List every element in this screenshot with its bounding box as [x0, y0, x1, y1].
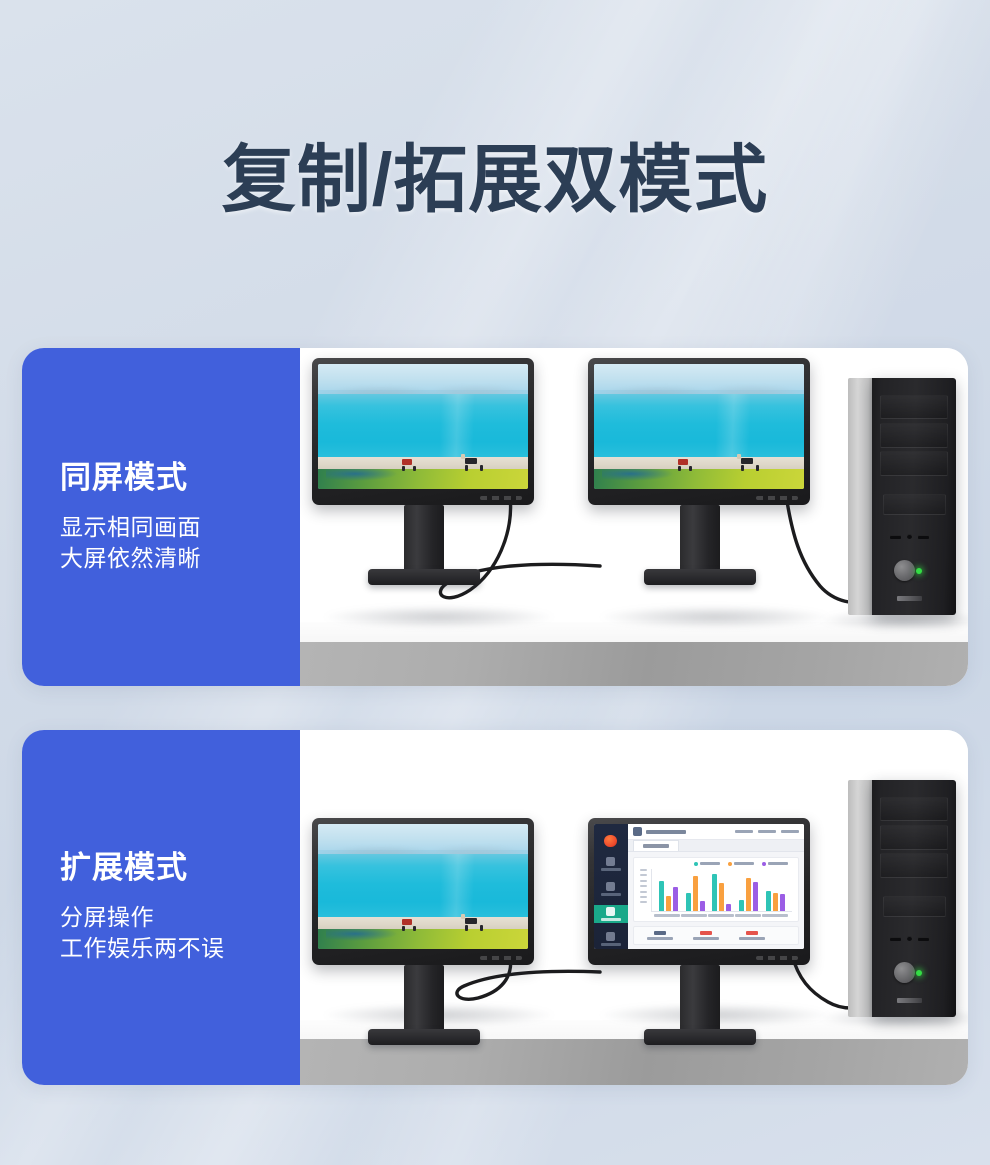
bar[interactable]: [753, 882, 758, 912]
wallpaper-horse-leg: [689, 466, 692, 471]
dashboard-sidebar: [594, 824, 628, 949]
wallpaper-lake: [318, 854, 528, 919]
mode-label-panel-same-screen: 同屏模式 显示相同画面 大屏依然清晰: [22, 348, 300, 686]
tower-usb-port-icon[interactable]: [890, 937, 901, 941]
sidebar-item-1[interactable]: [594, 855, 628, 872]
stat-label: [647, 937, 673, 940]
chart-x-axis: [640, 912, 792, 917]
stat-item: [647, 931, 673, 940]
desk-front-edge: [300, 642, 968, 686]
wallpaper-cow-head: [461, 914, 465, 919]
sidebar-item-4[interactable]: [594, 931, 628, 948]
y-tick: [640, 885, 647, 887]
monitor-screen: [318, 364, 528, 489]
tower-usb-port-icon[interactable]: [918, 535, 929, 539]
wallpaper-mountains: [594, 379, 804, 395]
bar[interactable]: [712, 874, 717, 912]
tower-front-ports[interactable]: [890, 936, 929, 941]
wallpaper-cow-leg: [480, 925, 483, 931]
monitor-left: [312, 818, 534, 965]
sidebar-item-label: [601, 868, 621, 871]
stat-label: [739, 937, 765, 940]
tower-audio-jack-icon[interactable]: [907, 936, 912, 941]
tower-side-panel: [848, 378, 874, 615]
wallpaper-lake: [594, 394, 804, 459]
y-tick: [640, 880, 647, 882]
wallpaper-cow-head: [461, 454, 465, 459]
dashboard-app: [594, 824, 804, 949]
bar[interactable]: [659, 881, 664, 912]
chart-plot-area: [651, 869, 792, 913]
tower-vent-panel: [883, 494, 946, 515]
wallpaper-horse-icon: [402, 459, 412, 465]
lake-landscape-wallpaper: [318, 824, 528, 949]
bar[interactable]: [686, 893, 691, 912]
tower-drive-bay: [880, 825, 948, 850]
y-tick: [640, 874, 647, 876]
topbar-actions[interactable]: [735, 830, 799, 834]
mode-title: 扩展模式: [60, 851, 300, 885]
topbar-action-item[interactable]: [781, 830, 799, 834]
y-tick: [640, 896, 647, 898]
wallpaper-mountains: [318, 379, 528, 395]
bar[interactable]: [780, 894, 785, 911]
mode-label-panel-extend: 扩展模式 分屏操作 工作娱乐两不误: [22, 730, 300, 1085]
wallpaper-horse-leg: [678, 466, 681, 471]
bar[interactable]: [693, 876, 698, 911]
mode-desc-line-2: 工作娱乐两不误: [60, 933, 300, 964]
wallpaper-grass: [594, 469, 804, 489]
tower-side-panel: [848, 780, 874, 1017]
wallpaper-lake: [318, 394, 528, 459]
monitor-bezel: [588, 818, 810, 965]
dashboard-logo-icon: [604, 835, 617, 848]
dashboard-main: [628, 824, 804, 949]
tower-usb-port-icon[interactable]: [918, 937, 929, 941]
app-brand-label: [646, 830, 686, 834]
monitor-screen: [318, 824, 528, 949]
tower-front-panel: [872, 378, 956, 615]
topbar-action-item[interactable]: [735, 830, 753, 834]
tower-front-ports[interactable]: [890, 534, 929, 539]
tower-power-led-icon: [916, 970, 922, 976]
tower-brand-logo: [897, 998, 922, 1003]
wallpaper-cow-leg: [741, 465, 744, 471]
tower-power-led-icon: [916, 568, 922, 574]
monitor-floor-shadow: [324, 606, 554, 628]
bar-group: [712, 869, 731, 912]
sidebar-item-label: [601, 943, 621, 946]
wallpaper-cow-leg: [756, 465, 759, 471]
lake-landscape-wallpaper: [318, 364, 528, 489]
bar[interactable]: [766, 891, 771, 911]
wallpaper-cow-icon: [465, 458, 477, 464]
sidebar-item-label: [601, 893, 621, 896]
sidebar-item-label: [601, 918, 621, 921]
x-tick-label: [654, 914, 680, 917]
chart-y-axis: [640, 869, 651, 913]
wallpaper-horse-icon: [402, 919, 412, 925]
tower-front-panel: [872, 780, 956, 1017]
monitor-stand-neck: [680, 965, 720, 1035]
y-tick: [640, 901, 647, 903]
y-tick: [640, 869, 647, 871]
tower-drive-bay: [880, 423, 948, 448]
stat-item: [739, 931, 765, 940]
wallpaper-cow-leg: [465, 465, 468, 471]
wallpaper-horse-leg: [402, 466, 405, 471]
desktop-pc-tower: [848, 780, 956, 1017]
wallpaper-horse-leg: [413, 926, 416, 931]
mode-card-same-screen: 同屏模式 显示相同画面 大屏依然清晰: [22, 348, 968, 686]
tower-drive-bay: [880, 451, 948, 476]
app-brand-icon: [633, 827, 642, 836]
wallpaper-cow-leg: [465, 925, 468, 931]
page-title: 复制/拓展双模式: [0, 143, 990, 217]
scene-same-screen: [300, 348, 968, 686]
monitor-right: [588, 358, 810, 505]
mode-title: 同屏模式: [60, 461, 300, 495]
stat-item: [693, 931, 719, 940]
monitor-stand-neck: [680, 505, 720, 575]
monitor-stand-base: [644, 569, 756, 585]
bar[interactable]: [673, 887, 678, 912]
tower-vent-panel: [883, 896, 946, 917]
monitor-bezel: [588, 358, 810, 505]
bar-group: [739, 869, 758, 912]
tab-active[interactable]: [633, 840, 679, 850]
dashboard-body: [628, 852, 804, 950]
x-tick-label: [708, 914, 734, 917]
stat-value: [746, 931, 758, 935]
sidebar-item-2[interactable]: [594, 880, 628, 897]
stat-value: [654, 931, 666, 935]
desktop-pc-tower: [848, 378, 956, 615]
monitor-bezel: [312, 358, 534, 505]
stat-value: [700, 931, 712, 935]
monitor-left: [312, 358, 534, 505]
monitor-stand-base: [644, 1029, 756, 1045]
monitor-floor-shadow: [600, 606, 830, 628]
monitor-stand-base: [368, 1029, 480, 1045]
bar[interactable]: [726, 904, 731, 912]
dashboard-stats-footer: [633, 926, 799, 946]
chart-panel: [633, 857, 799, 922]
tower-drive-bay: [880, 395, 948, 420]
tower-audio-jack-icon[interactable]: [907, 534, 912, 539]
y-tick: [640, 891, 647, 893]
bar[interactable]: [739, 900, 744, 911]
tower-drive-bay: [880, 853, 948, 878]
monitor-screen-dashboard: [594, 824, 804, 949]
chart-icon: [606, 907, 615, 916]
lake-landscape-wallpaper: [594, 364, 804, 489]
bar[interactable]: [700, 901, 705, 911]
tower-drive-bay: [880, 797, 948, 822]
stat-label: [693, 937, 719, 940]
wallpaper-horse-icon: [678, 459, 688, 465]
wallpaper-mountains: [318, 839, 528, 855]
wallpaper-cow-icon: [465, 918, 477, 924]
monitor-screen: [594, 364, 804, 489]
user-icon: [606, 932, 615, 941]
list-icon: [606, 882, 615, 891]
bar-group: [659, 869, 678, 912]
wallpaper-grass: [318, 929, 528, 949]
dashboard-topbar: [628, 824, 804, 840]
bar[interactable]: [666, 896, 671, 911]
scene-extend: [300, 730, 968, 1085]
wallpaper-horse-leg: [413, 466, 416, 471]
wallpaper-cow-leg: [480, 465, 483, 471]
mode-desc-line-2: 大屏依然清晰: [60, 543, 300, 574]
home-icon: [606, 857, 615, 866]
monitor-right: [588, 818, 810, 965]
monitor-stand-neck: [404, 505, 444, 575]
wallpaper-cow-icon: [741, 458, 753, 464]
bar-group: [766, 869, 785, 912]
x-tick-label: [762, 914, 788, 917]
wallpaper-horse-leg: [402, 926, 405, 931]
bar[interactable]: [719, 883, 724, 911]
tower-brand-logo: [897, 596, 922, 601]
desk-front-edge: [300, 1039, 968, 1085]
x-tick-label: [681, 914, 707, 917]
bar-group: [686, 869, 705, 912]
wallpaper-cow-head: [737, 454, 741, 459]
bar[interactable]: [746, 878, 751, 911]
bar-chart: [640, 866, 792, 913]
tower-power-button[interactable]: [894, 560, 915, 581]
monitor-stand-neck: [404, 965, 444, 1035]
mode-card-extend: 扩展模式 分屏操作 工作娱乐两不误: [22, 730, 968, 1085]
monitor-stand-base: [368, 569, 480, 585]
dashboard-tabbar: [628, 840, 804, 851]
bar[interactable]: [773, 893, 778, 912]
mode-desc-line-1: 显示相同画面: [60, 512, 300, 543]
tower-usb-port-icon[interactable]: [890, 535, 901, 539]
monitor-bezel: [312, 818, 534, 965]
sidebar-item-3[interactable]: [594, 905, 628, 922]
x-tick-label: [735, 914, 761, 917]
mode-desc-line-1: 分屏操作: [60, 902, 300, 933]
tower-power-button[interactable]: [894, 962, 915, 983]
wallpaper-grass: [318, 469, 528, 489]
topbar-action-item[interactable]: [758, 830, 776, 834]
tab-label: [643, 844, 669, 848]
